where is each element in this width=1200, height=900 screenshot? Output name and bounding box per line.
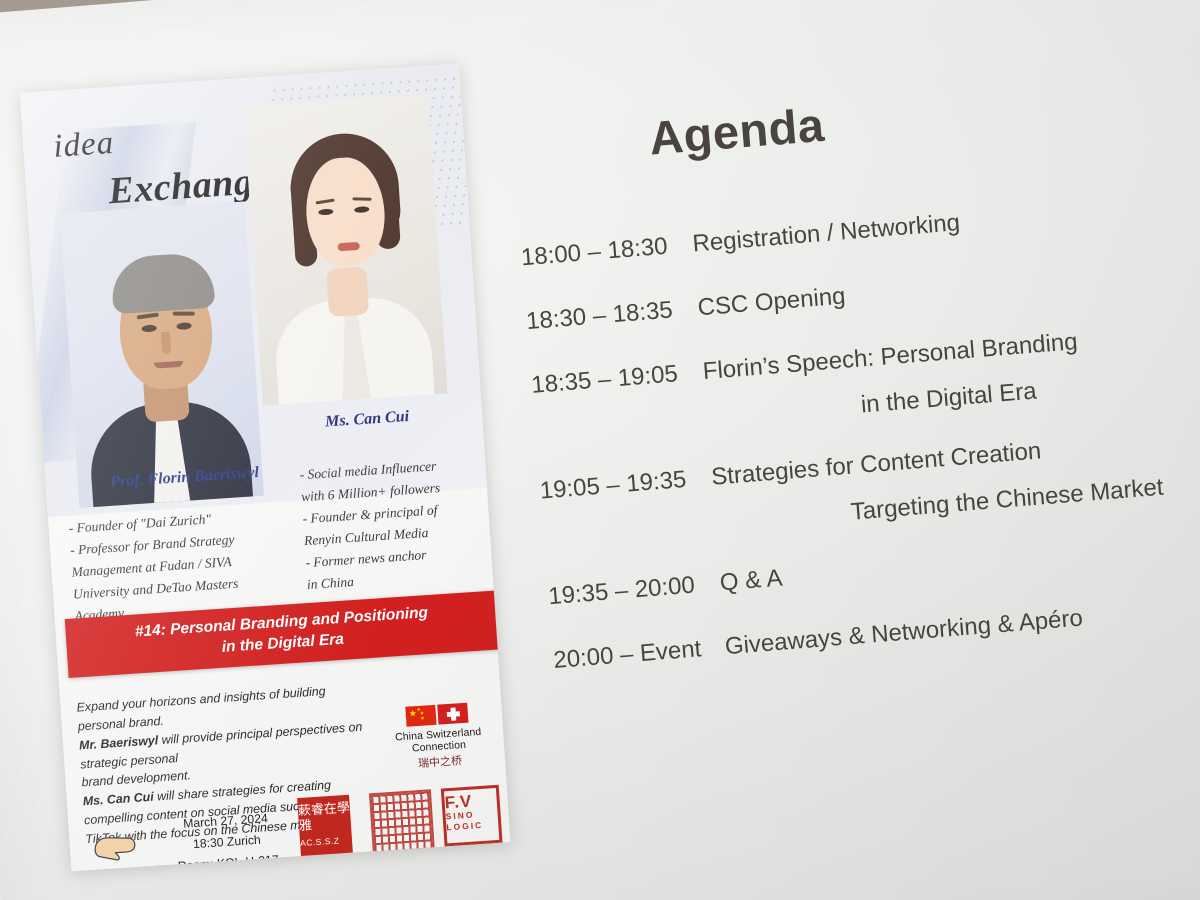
acssz-seal-abbr: AC.S.S.Z (300, 836, 352, 848)
acssz-seal-characters: 蔌睿在學雅 (298, 801, 352, 834)
agenda-time: 19:35 – 20:00 (547, 570, 721, 612)
agenda-time: 18:00 – 18:30 (520, 231, 694, 273)
portrait-can-cui (243, 94, 447, 406)
portrait-florin-baeriswyl (60, 201, 264, 508)
projection-screen: idea Exchange (0, 0, 1200, 900)
chinese-seal-icon (369, 789, 435, 855)
agenda-time: 19:05 – 19:35 (539, 464, 713, 506)
agenda-label: Giveaways & Networking & Apéro (724, 601, 1085, 666)
switzerland-flag-icon (437, 703, 468, 725)
brand-word-idea: idea (52, 125, 115, 166)
agenda-section: Agenda 18:00 – 18:30 Registration / Netw… (510, 67, 1200, 707)
acssz-en-line-1: ASSOCIATION OF CHINESE STUDENTS (285, 869, 500, 871)
poster-header-area: idea Exchange (20, 64, 487, 517)
agenda-time: 20:00 – Event (552, 633, 726, 675)
agenda-time: 18:30 – 18:35 (525, 294, 699, 336)
event-poster: idea Exchange (20, 64, 511, 871)
speaker-bio-female: - Social media Influencer with 6 Million… (299, 453, 487, 596)
description-bold-name: Mr. Baeriswyl (79, 733, 159, 752)
agenda-heading: Agenda (520, 87, 953, 176)
event-venue: University of Zurich (144, 868, 315, 871)
pointing-hand-icon (91, 829, 139, 866)
csc-logo-block: ★★★★ China Switzerland Connection 瑞中之桥 (371, 700, 505, 773)
agenda-label: Registration / Networking (691, 205, 961, 262)
agenda-list: 18:00 – 18:30 Registration / Networking … (520, 186, 1200, 679)
china-flag-icon: ★★★★ (405, 705, 436, 727)
bio-list-female: - Social media Influencer with 6 Million… (299, 453, 487, 595)
fv-sino-logic-seal-icon: F.V SINO LOGIC (441, 785, 503, 847)
slide-content: idea Exchange (3, 0, 1200, 900)
agenda-time: 18:35 – 19:05 (530, 358, 704, 400)
acssz-name-english: ASSOCIATION OF CHINESE STUDENTS AND SCHO… (285, 869, 501, 871)
agenda-label: Q & A (718, 561, 783, 602)
description-bold-name: Ms. Can Cui (82, 790, 154, 809)
logic-text: LOGIC (446, 819, 499, 833)
acssz-name-chinese: 苏黎世中国学生学者联合会 (284, 855, 499, 871)
event-details: March 27, 2024 18:30 Zurich Room: KOL-H-… (140, 805, 315, 871)
acssz-seal-icon: 蔌睿在學雅 AC.S.S.Z (297, 795, 353, 860)
agenda-label: CSC Opening (696, 279, 846, 327)
photo-scene: idea Exchange (0, 0, 1200, 900)
